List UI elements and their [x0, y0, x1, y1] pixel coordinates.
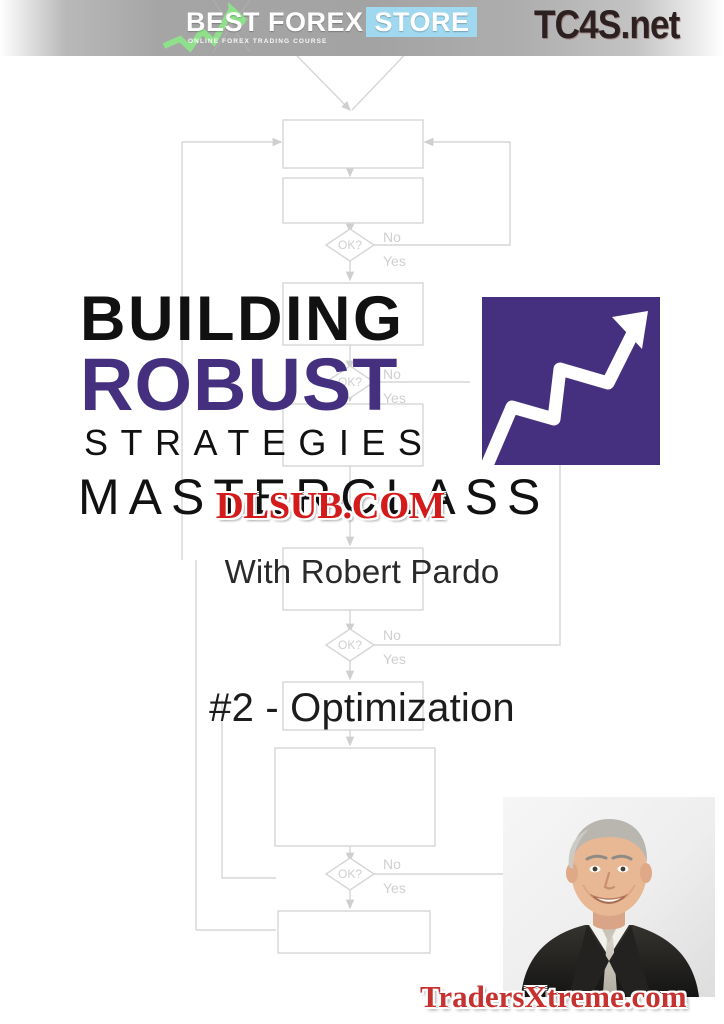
branch-label-no: No [383, 627, 401, 643]
branch-label-no: No [383, 366, 401, 382]
branch-label-yes: Yes [383, 880, 406, 896]
branch-label-yes: Yes [383, 651, 406, 667]
brand-primary-text: BEST FOREX [186, 7, 364, 37]
tc4s-site-logo[interactable]: TC4S.net [534, 3, 680, 47]
brand-highlight-text: STORE [366, 7, 477, 37]
branch-label-yes: Yes [383, 390, 406, 406]
branch-label-yes: Yes [383, 253, 406, 269]
dlsub-watermark: DLSUB.COM [216, 486, 445, 526]
flow-node [283, 283, 423, 345]
poster-page: OK? OK? OK? OK? No Yes No Yes No Yes No … [0, 0, 724, 1024]
flow-node [278, 911, 430, 953]
brand-tagline: ONLINE FOREX TRADING COURSE [188, 38, 327, 45]
branch-label-no: No [383, 856, 401, 872]
flow-node [275, 748, 435, 846]
top-banner: BEST FOREXSTORE ONLINE FOREX TRADING COU… [0, 0, 724, 56]
flow-node [283, 682, 423, 730]
decision-label: OK? [338, 238, 362, 252]
flow-node [283, 178, 423, 223]
flow-node [283, 120, 423, 168]
presenter-portrait-photo [503, 797, 715, 997]
decision-label: OK? [338, 638, 362, 652]
flow-node [283, 404, 423, 466]
tradersxtreme-watermark: TradersXtreme.com [420, 980, 687, 1014]
decision-label: OK? [338, 867, 362, 881]
best-forex-store-logo[interactable]: BEST FOREXSTORE ONLINE FOREX TRADING COU… [186, 7, 477, 49]
flow-node [283, 548, 423, 610]
branch-label-no: No [383, 229, 401, 245]
decision-label: OK? [338, 375, 362, 389]
